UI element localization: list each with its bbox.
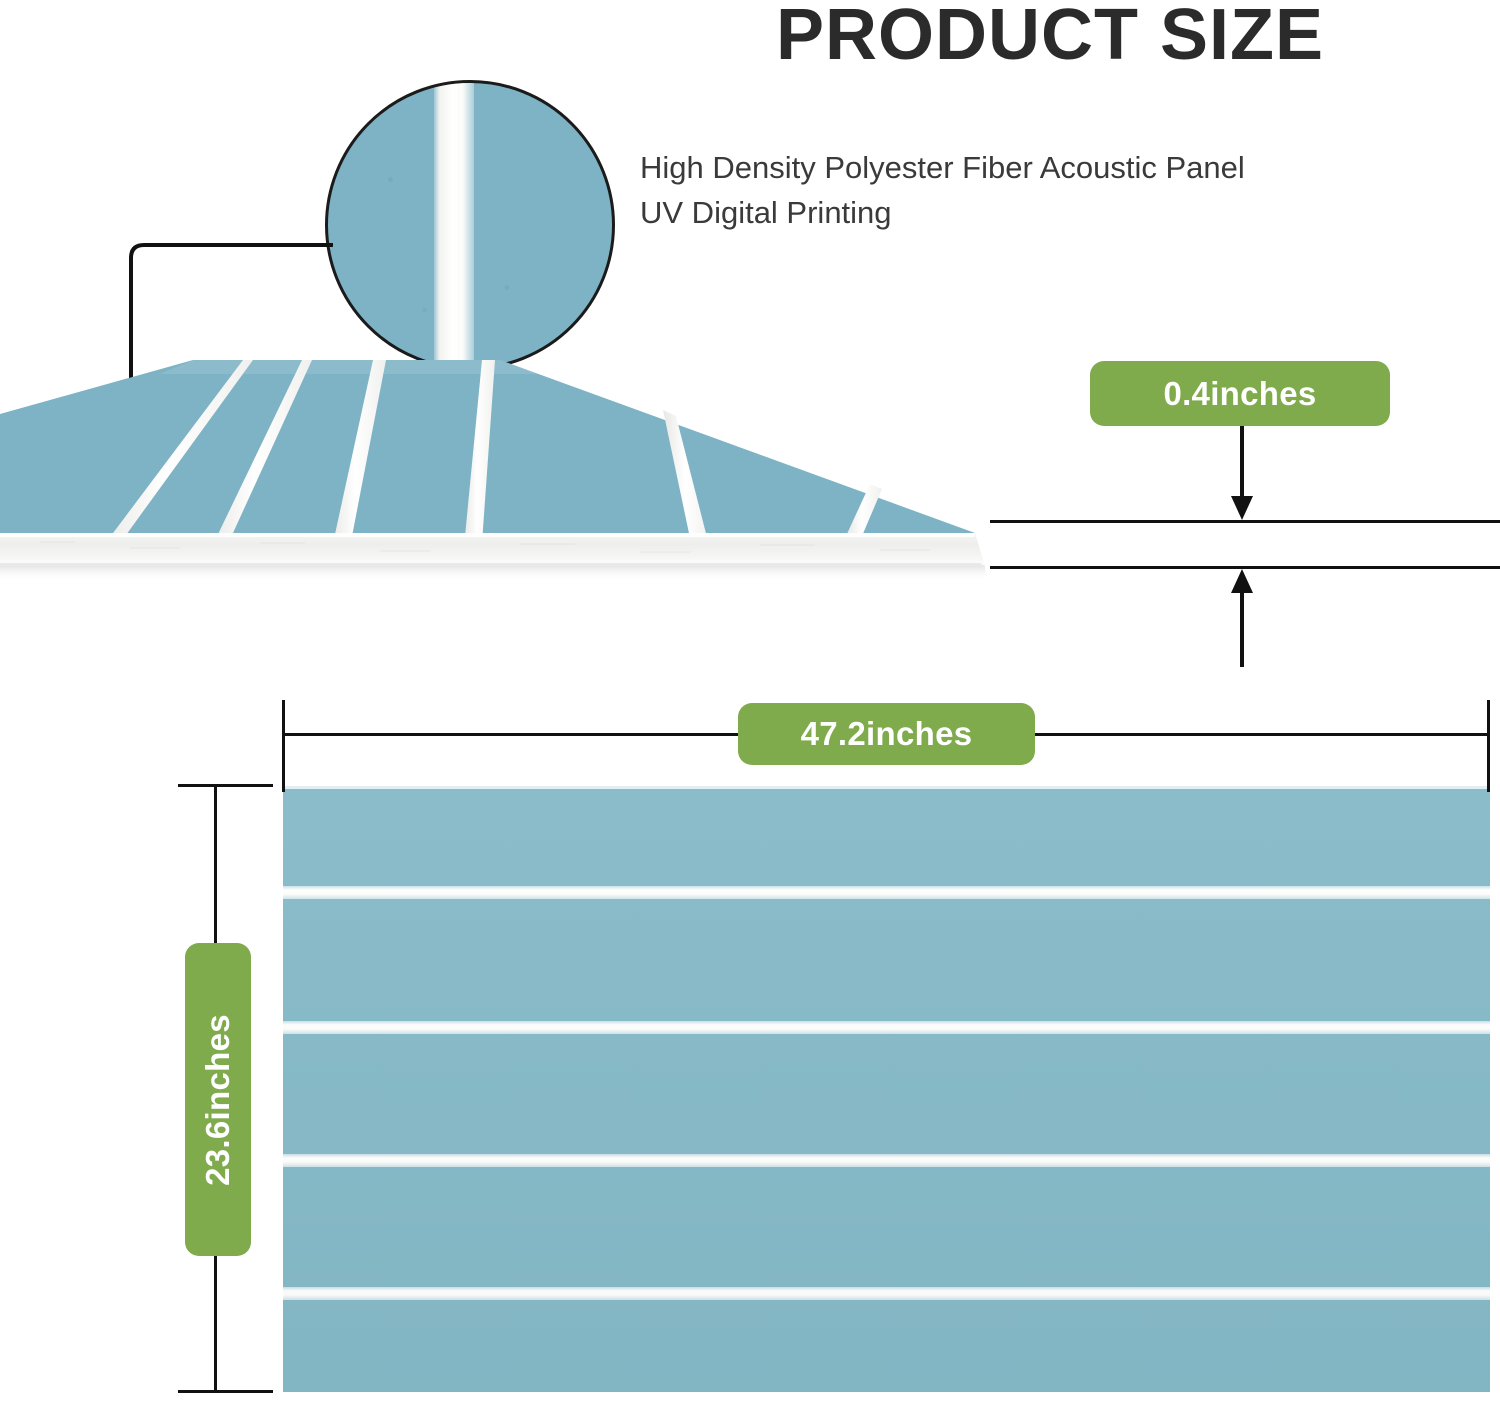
width-tick-left — [282, 700, 285, 792]
height-label: 23.6inches — [199, 1014, 237, 1186]
product-description-line-2: UV Digital Printing — [640, 191, 1470, 236]
panel-shading — [283, 786, 1490, 1397]
arrow-down-icon — [1226, 424, 1258, 524]
panel-groove — [283, 886, 1490, 899]
arrow-up-icon — [1226, 562, 1258, 667]
product-description: High Density Polyester Fiber Acoustic Pa… — [640, 146, 1470, 236]
thickness-label: 0.4inches — [1163, 375, 1316, 413]
panel-groove — [283, 1287, 1490, 1300]
perspective-panel-illustration — [0, 352, 1000, 587]
product-size-infographic: PRODUCT SIZE High Density Polyester Fibe… — [0, 0, 1500, 1405]
height-badge: 23.6inches — [185, 943, 251, 1256]
product-description-line-1: High Density Polyester Fiber Acoustic Pa… — [640, 146, 1470, 191]
height-tick-top — [178, 784, 273, 787]
page-title: PRODUCT SIZE — [620, 0, 1480, 74]
groove-detail — [434, 80, 474, 370]
width-tick-right — [1487, 700, 1490, 792]
height-tick-bottom — [178, 1390, 273, 1393]
panel-groove — [283, 1154, 1490, 1167]
width-badge: 47.2inches — [738, 703, 1035, 765]
panel-groove — [283, 1021, 1490, 1034]
panel-front-view — [283, 786, 1490, 1397]
panel-top-highlight — [283, 786, 1490, 789]
thickness-badge: 0.4inches — [1090, 361, 1390, 426]
panel-bottom-highlight — [283, 1392, 1490, 1397]
width-label: 47.2inches — [801, 715, 973, 753]
magnifier-circle-icon — [325, 80, 615, 370]
